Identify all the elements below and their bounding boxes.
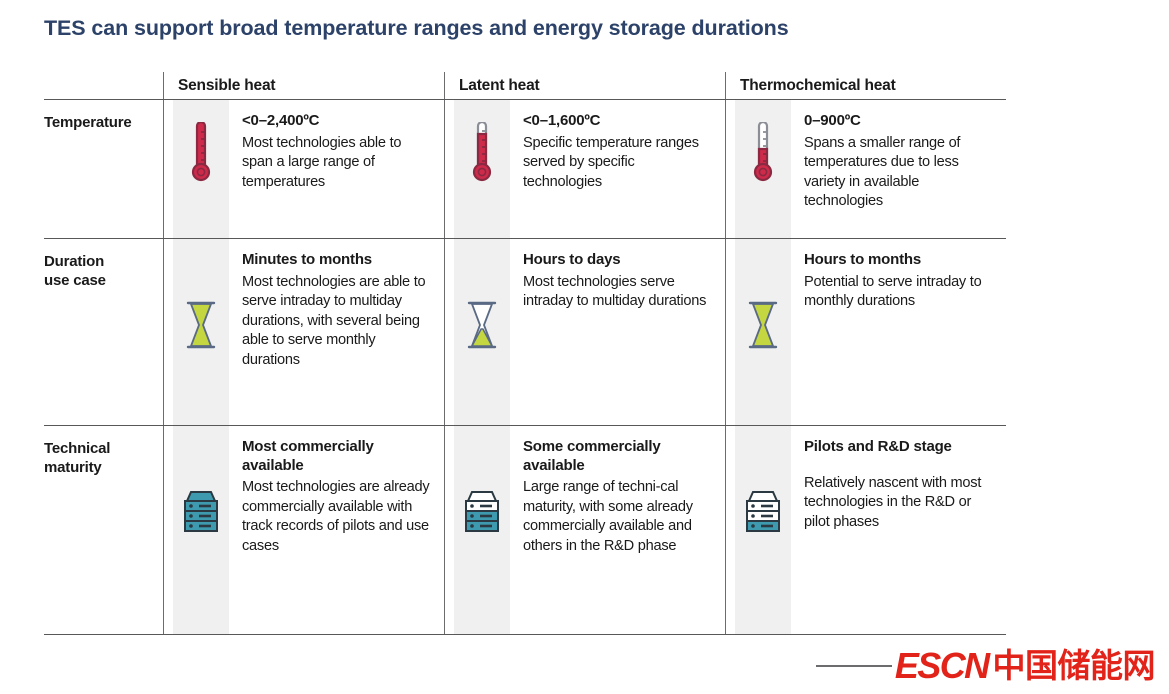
- table-row: Technical maturity: [44, 426, 1006, 635]
- column-header-label: Sensible heat: [164, 73, 275, 99]
- header-corner-cell: [44, 72, 163, 99]
- comparison-table: Sensible heat Latent heat Thermochemical…: [44, 72, 1006, 635]
- column-header-label: Thermochemical heat: [726, 73, 896, 99]
- table-row: Temperature: [44, 100, 1006, 239]
- cell-title: <0–2,400ºC: [242, 112, 432, 131]
- cell-title: Hours to months: [804, 251, 994, 270]
- header-cell-sensible: Sensible heat: [163, 72, 444, 99]
- icon-panel: [454, 239, 510, 425]
- icon-panel: [735, 239, 791, 425]
- thermometer-icon: [188, 171, 214, 188]
- row-label-technical-maturity: Technical maturity: [44, 426, 163, 634]
- cell-body: Large range of techni-cal maturity, with…: [523, 478, 713, 556]
- cell-title: Most commercially available: [242, 438, 432, 475]
- cell-body: Relatively nascent with most technologie…: [804, 474, 994, 533]
- cell-title: <0–1,600ºC: [523, 112, 713, 131]
- footer-watermark: ESCN 中国储能网: [0, 638, 1169, 694]
- icon-panel: [454, 100, 510, 238]
- table-row: Duration use case: [44, 239, 1006, 426]
- column-header-label: Latent heat: [445, 73, 539, 99]
- cell-title: Some commercially available: [523, 438, 713, 475]
- cell-maturity-thermochemical: Pilots and R&D stage Relatively nascent …: [725, 426, 1006, 634]
- hourglass-icon: [746, 338, 780, 355]
- icon-panel: [454, 426, 510, 634]
- cell-maturity-sensible: Most commercially available Most technol…: [163, 426, 444, 634]
- escn-logo-chinese-text: 中国储能网: [989, 648, 1169, 684]
- cell-duration-thermochemical: Hours to months Potential to serve intra…: [725, 239, 1006, 425]
- cell-title: Minutes to months: [242, 251, 432, 270]
- thermometer-icon: [469, 171, 495, 188]
- logo-divider-rule: [816, 665, 892, 667]
- row-label-temperature: Temperature: [44, 100, 163, 238]
- cell-duration-latent: Hours to days Most technologies serve in…: [444, 239, 725, 425]
- cell-body: Spans a smaller range of temperatures du…: [804, 134, 994, 212]
- icon-panel: [735, 100, 791, 238]
- cell-body: Most technologies serve intraday to mult…: [523, 273, 713, 312]
- cell-title: Hours to days: [523, 251, 713, 270]
- cell-title: Pilots and R&D stage: [804, 438, 994, 457]
- cell-maturity-latent: Some commercially available Large range …: [444, 426, 725, 634]
- hourglass-icon: [184, 338, 218, 355]
- cell-temperature-sensible: <0–2,400ºC Most technologies able to spa…: [163, 100, 444, 238]
- cell-title: 0–900ºC: [804, 112, 994, 131]
- server-stack-icon: [742, 522, 784, 539]
- cell-body: Most technologies able to span a large r…: [242, 134, 432, 193]
- icon-panel: [173, 239, 229, 425]
- infographic-page: TES can support broad temperature ranges…: [0, 0, 1169, 694]
- cell-body: Potential to serve intraday to monthly d…: [804, 273, 994, 312]
- page-title: TES can support broad temperature ranges…: [44, 16, 789, 41]
- cell-duration-sensible: Minutes to months Most technologies are …: [163, 239, 444, 425]
- server-stack-icon: [461, 522, 503, 539]
- icon-panel: [735, 426, 791, 634]
- cell-body: Specific temperature ranges served by sp…: [523, 134, 713, 193]
- icon-panel: [173, 426, 229, 634]
- escn-logo-mark: ESCN: [892, 648, 989, 684]
- icon-panel: [173, 100, 229, 238]
- cell-body: Most technologies are able to serve intr…: [242, 273, 432, 371]
- row-label-duration-use-case: Duration use case: [44, 239, 163, 425]
- server-stack-icon: [180, 522, 222, 539]
- header-cell-latent: Latent heat: [444, 72, 725, 99]
- table-header-row: Sensible heat Latent heat Thermochemical…: [44, 72, 1006, 100]
- thermometer-icon: [750, 171, 776, 188]
- cell-temperature-thermochemical: 0–900ºC Spans a smaller range of tempera…: [725, 100, 1006, 238]
- header-cell-thermochemical: Thermochemical heat: [725, 72, 1006, 99]
- hourglass-icon: [465, 338, 499, 355]
- cell-temperature-latent: <0–1,600ºC Specific temperature ranges s…: [444, 100, 725, 238]
- cell-body: Most technologies are already commercial…: [242, 478, 432, 556]
